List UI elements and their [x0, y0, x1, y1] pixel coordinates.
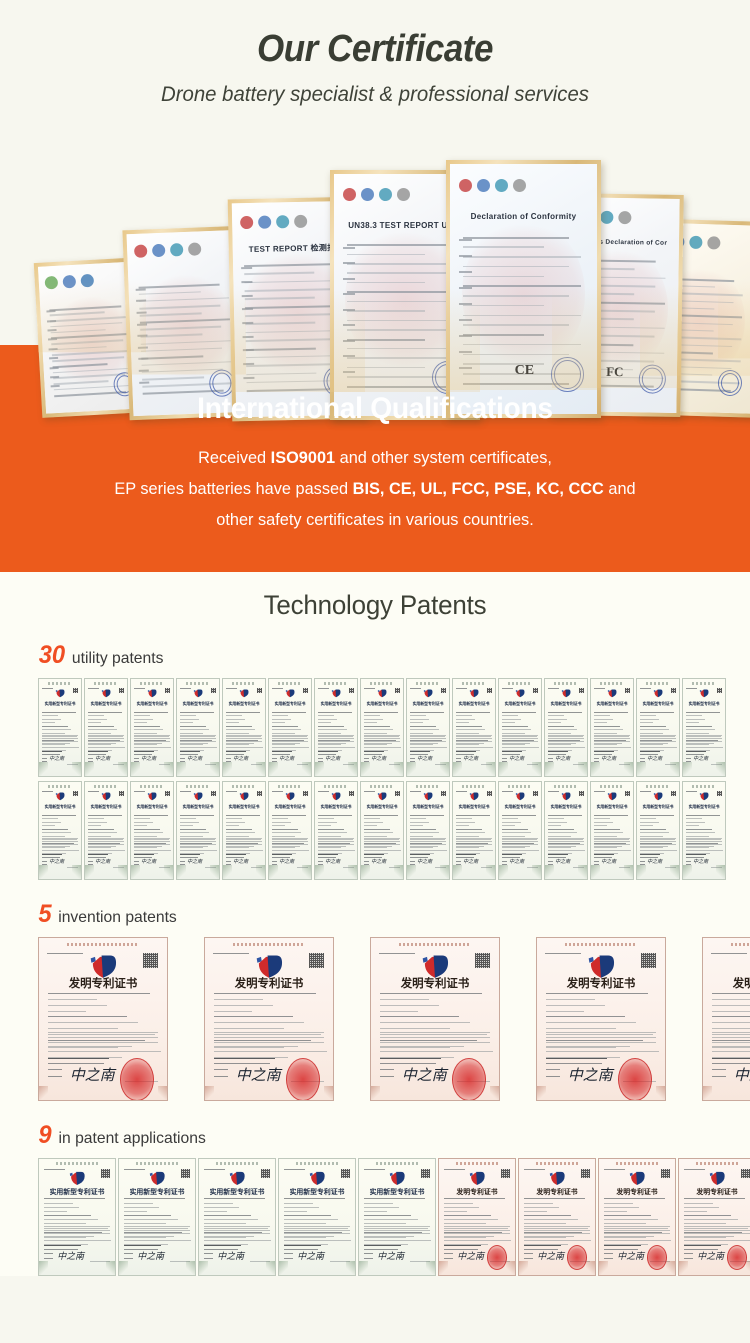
corner-ornament: [269, 865, 278, 879]
international-qualifications-banner: International Qualifications Received IS…: [0, 345, 750, 572]
certificate-title: 实用新型专利证书: [594, 701, 629, 707]
certificate-title: 发明专利证书: [685, 1186, 749, 1196]
qr-code-icon: [165, 688, 170, 693]
certificate-title: 实用新型专利证书: [365, 1186, 429, 1196]
patent-emblem-icon: [515, 689, 525, 698]
emblem-holder: [309, 1171, 326, 1186]
certificate-title: 实用新型专利证书: [134, 701, 169, 707]
corner-ornament: [266, 1261, 275, 1275]
patent-emblem-icon: [515, 792, 525, 801]
patent-group-utility: 30 utility patents 实用新型专利证书中之南实用新型专利证书中之…: [0, 643, 750, 880]
certificate-top-ornament: [416, 785, 440, 788]
qr-code-icon: [487, 791, 492, 796]
signature: 中之南: [236, 1064, 281, 1085]
certificate-top-ornament: [508, 785, 532, 788]
corner-ornament: [407, 762, 416, 776]
corner-ornament: [223, 865, 232, 879]
corner-ornament: [348, 865, 357, 879]
corner-ornament: [324, 1086, 333, 1100]
signature: 中之南: [325, 858, 340, 865]
qr-code-icon: [395, 688, 400, 693]
emblem-holder: [193, 689, 203, 698]
emblem-holder: [285, 792, 295, 801]
signature: 中之南: [734, 1064, 750, 1085]
qr-code-icon: [341, 1169, 350, 1178]
patent-emblem-icon: [55, 792, 65, 801]
patent-certificate-thumbnail[interactable]: 实用新型专利证书中之南: [176, 678, 220, 777]
qr-code-icon: [257, 688, 262, 693]
patent-certificate-thumbnail[interactable]: 实用新型专利证书中之南: [268, 678, 312, 777]
emblem-holder: [55, 689, 65, 698]
patent-group-applications: 9 in patent applications 实用新型专利证书中之南实用新型…: [0, 1123, 750, 1276]
corner-ornament: [637, 762, 646, 776]
patent-certificate-thumbnail[interactable]: 实用新型专利证书中之南: [682, 678, 726, 777]
patent-certificate-thumbnail[interactable]: 实用新型专利证书中之南: [222, 781, 266, 880]
corner-ornament: [39, 865, 48, 879]
patent-emblem-icon: [285, 792, 295, 801]
patent-certificate-thumbnail[interactable]: 实用新型专利证书中之南: [130, 781, 174, 880]
certificate-top-ornament: [233, 943, 305, 946]
signature: 中之南: [647, 755, 662, 762]
patent-emblem-icon: [709, 1171, 726, 1186]
emblem-holder: [55, 792, 65, 801]
signature: 中之南: [70, 1064, 115, 1085]
patent-emblem-icon: [149, 1171, 166, 1186]
emblem-holder: [607, 792, 617, 801]
patent-emblem-icon: [309, 1171, 326, 1186]
certificate-title: 实用新型专利证书: [205, 1186, 269, 1196]
banner-line1-suffix: and other system certificates,: [335, 448, 552, 467]
patent-certificate-thumbnail[interactable]: 发明专利证书中之南: [702, 937, 750, 1101]
patent-emblem-icon: [193, 792, 203, 801]
emblem-holder: [709, 1171, 726, 1186]
corner-ornament: [315, 762, 324, 776]
certificate-title: 实用新型专利证书: [640, 701, 675, 707]
emblem-holder: [515, 792, 525, 801]
patent-certificate-thumbnail[interactable]: 实用新型专利证书中之南: [406, 678, 450, 777]
certificate-title: 实用新型专利证书: [318, 701, 353, 707]
certificate-title: 实用新型专利证书: [272, 804, 307, 810]
patent-certificate-thumbnail[interactable]: 实用新型专利证书中之南: [636, 781, 680, 880]
qr-code-icon: [303, 688, 308, 693]
patent-emblem-icon: [239, 689, 249, 698]
qr-code-icon: [119, 791, 124, 796]
patent-certificate-thumbnail[interactable]: 实用新型专利证书中之南: [198, 1158, 276, 1276]
corner-ornament: [440, 865, 449, 879]
group-count: 30: [39, 643, 65, 668]
qr-code-icon: [441, 791, 446, 796]
corner-ornament: [499, 865, 508, 879]
corner-ornament: [537, 1086, 546, 1100]
patent-certificate-thumbnail[interactable]: 实用新型专利证书中之南: [590, 678, 634, 777]
corner-ornament: [39, 762, 48, 776]
corner-ornament: [131, 762, 140, 776]
patent-certificate-thumbnail[interactable]: 实用新型专利证书中之南: [406, 781, 450, 880]
certificate-title: 实用新型专利证书: [285, 1186, 349, 1196]
group-count: 5: [38, 902, 51, 927]
certificate-top-ornament: [186, 785, 210, 788]
qr-code-icon: [671, 791, 676, 796]
emblem-holder: [699, 689, 709, 698]
signature: 中之南: [187, 755, 202, 762]
patent-emblem-icon: [561, 792, 571, 801]
patent-certificate-thumbnail[interactable]: 实用新型专利证书中之南: [84, 781, 128, 880]
patent-emblem-icon: [389, 1171, 406, 1186]
group-text: invention patents: [58, 909, 177, 927]
patent-certificate-thumbnail[interactable]: 实用新型专利证书中之南: [498, 678, 542, 777]
corner-ornament: [703, 1086, 712, 1100]
signature: 中之南: [601, 755, 616, 762]
certificate-title: 实用新型专利证书: [226, 701, 261, 707]
signature: 中之南: [417, 858, 432, 865]
signature: 中之南: [417, 755, 432, 762]
qr-code-icon: [741, 1169, 750, 1178]
certificate-top-ornament: [692, 785, 716, 788]
corner-ornament: [670, 865, 679, 879]
certificate-top-ornament: [554, 682, 578, 685]
patent-certificate-thumbnail[interactable]: 发明专利证书中之南: [678, 1158, 750, 1276]
patent-certificate-thumbnail[interactable]: 实用新型专利证书中之南: [590, 781, 634, 880]
patent-certificate-thumbnail[interactable]: 发明专利证书中之南: [518, 1158, 596, 1276]
official-red-seal-icon: [727, 1245, 747, 1270]
corner-ornament: [315, 865, 324, 879]
qr-code-icon: [101, 1169, 110, 1178]
corner-ornament: [486, 762, 495, 776]
certificate-top-ornament: [324, 785, 348, 788]
certificate-title: 实用新型专利证书: [42, 701, 77, 707]
emblem-holder: [561, 689, 571, 698]
certificate-top-ornament: [399, 943, 471, 946]
signature: 中之南: [463, 858, 478, 865]
patent-certificate-thumbnail[interactable]: 实用新型专利证书中之南: [314, 781, 358, 880]
signature: 中之南: [463, 755, 478, 762]
corner-ornament: [269, 762, 278, 776]
certificate-top-ornament: [416, 682, 440, 685]
corner-ornament: [131, 865, 140, 879]
patent-emblem-icon: [101, 689, 111, 698]
patent-certificate-thumbnail[interactable]: 实用新型专利证书中之南: [544, 781, 588, 880]
corner-ornament: [72, 865, 81, 879]
qr-code-icon: [625, 791, 630, 796]
certificate-top-ornament: [565, 943, 637, 946]
corner-ornament: [177, 762, 186, 776]
signature: 中之南: [279, 858, 294, 865]
patent-certificate-thumbnail[interactable]: 实用新型专利证书中之南: [38, 1158, 116, 1276]
certificate-top-ornament: [600, 682, 624, 685]
certificate-top-ornament: [56, 1162, 99, 1165]
signature: 中之南: [49, 858, 64, 865]
patent-certificate-thumbnail[interactable]: 实用新型专利证书中之南: [222, 678, 266, 777]
patent-emblem-icon: [629, 1171, 646, 1186]
emblem-holder: [469, 689, 479, 698]
certificate-title: 实用新型专利证书: [410, 804, 445, 810]
corner-ornament: [656, 1086, 665, 1100]
qr-code-icon: [119, 688, 124, 693]
certificate-title: 实用新型专利证书: [42, 804, 77, 810]
patent-emblem-icon: [193, 689, 203, 698]
signature: 中之南: [377, 1249, 404, 1262]
signature: 中之南: [402, 1064, 447, 1085]
corner-ornament: [666, 1261, 675, 1275]
patent-certificate-thumbnail[interactable]: 实用新型专利证书中之南: [84, 678, 128, 777]
qr-code-icon: [625, 688, 630, 693]
certificate-top-ornament: [616, 1162, 659, 1165]
certificate-logo-band: [44, 269, 133, 287]
signature: 中之南: [697, 1249, 724, 1262]
certificate-top-ornament: [67, 943, 139, 946]
patent-emblem-icon: [607, 792, 617, 801]
certificate-title: 实用新型专利证书: [45, 1186, 109, 1196]
certificate-title: 实用新型专利证书: [180, 804, 215, 810]
corner-ornament: [578, 865, 587, 879]
certificate-top-ornament: [232, 785, 256, 788]
patent-certificate-thumbnail[interactable]: 发明专利证书中之南: [38, 937, 168, 1101]
corner-ornament: [302, 865, 311, 879]
corner-ornament: [164, 762, 173, 776]
certificate-title: 发明专利证书: [445, 1186, 509, 1196]
emblem-holder: [699, 792, 709, 801]
qr-code-icon: [441, 688, 446, 693]
qr-code-icon: [717, 791, 722, 796]
patent-emblem-icon: [469, 689, 479, 698]
certificate-title: 发明专利证书: [49, 975, 157, 991]
corner-ornament: [210, 762, 219, 776]
certificate-top-ornament: [48, 785, 72, 788]
patent-certificate-thumbnail[interactable]: 发明专利证书中之南: [438, 1158, 516, 1276]
signature: 中之南: [233, 858, 248, 865]
qr-code-icon: [181, 1169, 190, 1178]
emblem-holder: [377, 689, 387, 698]
patent-certificate-thumbnail[interactable]: 实用新型专利证书中之南: [360, 678, 404, 777]
corner-ornament: [348, 762, 357, 776]
patent-certificate-thumbnail[interactable]: 发明专利证书中之南: [536, 937, 666, 1101]
certificate-top-ornament: [136, 1162, 179, 1165]
corner-ornament: [164, 865, 173, 879]
certificate-top-ornament: [140, 682, 164, 685]
certificate-title: 实用新型专利证书: [548, 804, 583, 810]
certificate-top-ornament: [278, 682, 302, 685]
emblem-holder: [469, 792, 479, 801]
patent-certificate-thumbnail[interactable]: 发明专利证书中之南: [204, 937, 334, 1101]
signature: 中之南: [297, 1249, 324, 1262]
signature: 中之南: [279, 755, 294, 762]
official-red-seal-icon: [647, 1245, 667, 1270]
patent-certificate-thumbnail[interactable]: 实用新型专利证书中之南: [118, 1158, 196, 1276]
emblem-holder: [549, 1171, 566, 1186]
page-subtitle: Drone battery specialist & professional …: [11, 83, 739, 107]
patent-certificate-thumbnail[interactable]: 实用新型专利证书中之南: [360, 781, 404, 880]
certificate-top-ornament: [216, 1162, 259, 1165]
corner-ornament: [683, 865, 692, 879]
patent-emblem-icon: [699, 689, 709, 698]
qr-code-icon: [579, 791, 584, 796]
group-count: 9: [38, 1123, 51, 1148]
qr-code-icon: [257, 791, 262, 796]
corner-ornament: [39, 1086, 48, 1100]
patent-certificate-thumbnail[interactable]: 发明专利证书中之南: [598, 1158, 676, 1276]
patent-emblem-icon: [377, 689, 387, 698]
emblem-holder: [239, 792, 249, 801]
certificate-top-ornament: [692, 682, 716, 685]
banner-line2-suffix: and: [604, 479, 636, 498]
page-title: Our Certificate: [30, 0, 720, 71]
corner-ornament: [532, 762, 541, 776]
emblem-holder: [423, 792, 433, 801]
signature: 中之南: [555, 755, 570, 762]
patent-certificate-thumbnail[interactable]: 实用新型专利证书中之南: [38, 781, 82, 880]
banner-title: International Qualifications: [23, 345, 728, 426]
corner-ornament: [210, 865, 219, 879]
patent-certificate-thumbnail[interactable]: 发明专利证书中之南: [370, 937, 500, 1101]
qr-code-icon: [579, 688, 584, 693]
invention-row: 发明专利证书中之南发明专利证书中之南发明专利证书中之南发明专利证书中之南发明专利…: [38, 937, 750, 1101]
patent-certificate-thumbnail[interactable]: 实用新型专利证书中之南: [498, 781, 542, 880]
group-text: utility patents: [72, 650, 164, 668]
certificate-top-ornament: [646, 682, 670, 685]
banner-line2-prefix: EP series batteries have passed: [114, 479, 352, 498]
signature: 中之南: [617, 1249, 644, 1262]
certificate-title: 实用新型专利证书: [134, 804, 169, 810]
signature: 中之南: [141, 755, 156, 762]
qr-code-icon: [349, 688, 354, 693]
certificate-title: 发明专利证书: [605, 1186, 669, 1196]
patent-emblem-icon: [699, 792, 709, 801]
corner-ornament: [118, 762, 127, 776]
patent-certificate-thumbnail[interactable]: 实用新型专利证书中之南: [314, 678, 358, 777]
signature: 中之南: [509, 858, 524, 865]
technology-patents-section: Technology Patents 30 utility patents 实用…: [0, 572, 750, 1276]
patent-certificate-thumbnail[interactable]: 实用新型专利证书中之南: [176, 781, 220, 880]
patent-certificate-thumbnail[interactable]: 实用新型专利证书中之南: [38, 678, 82, 777]
applications-row: 实用新型专利证书中之南实用新型专利证书中之南实用新型专利证书中之南实用新型专利证…: [38, 1158, 750, 1276]
corner-ornament: [371, 1086, 380, 1100]
qr-code-icon: [143, 953, 158, 968]
emblem-holder: [229, 1171, 246, 1186]
emblem-holder: [69, 1171, 86, 1186]
emblem-holder: [653, 689, 663, 698]
emblem-holder: [377, 792, 387, 801]
emblem-holder: [285, 689, 295, 698]
certificate-top-ornament: [554, 785, 578, 788]
corner-ornament: [256, 865, 265, 879]
patent-certificate-thumbnail[interactable]: 实用新型专利证书中之南: [452, 678, 496, 777]
banner-line1-prefix: Received: [198, 448, 271, 467]
certificate-top-ornament: [324, 682, 348, 685]
corner-ornament: [506, 1261, 515, 1275]
corner-ornament: [624, 762, 633, 776]
patent-certificate-thumbnail[interactable]: 实用新型专利证书中之南: [358, 1158, 436, 1276]
patent-emblem-icon: [147, 792, 157, 801]
certificate-top-ornament: [370, 785, 394, 788]
corner-ornament: [118, 865, 127, 879]
corner-ornament: [85, 762, 94, 776]
emblem-holder: [149, 1171, 166, 1186]
qr-code-icon: [303, 791, 308, 796]
corner-ornament: [683, 762, 692, 776]
qr-code-icon: [533, 688, 538, 693]
qr-code-icon: [349, 791, 354, 796]
patent-certificate-thumbnail[interactable]: 实用新型专利证书中之南: [682, 781, 726, 880]
certificate-title: 发明专利证书: [713, 975, 750, 991]
certificate-top-ornament: [48, 682, 72, 685]
group-label: 5 invention patents: [38, 902, 750, 927]
emblem-holder: [331, 689, 341, 698]
patent-certificate-thumbnail[interactable]: 实用新型专利证书中之南: [452, 781, 496, 880]
certificate-title: 发明专利证书: [215, 975, 323, 991]
qr-code-icon: [395, 791, 400, 796]
certificate-top-ornament: [696, 1162, 739, 1165]
patent-certificate-thumbnail[interactable]: 实用新型专利证书中之南: [130, 678, 174, 777]
emblem-holder: [147, 689, 157, 698]
certificate-top-ornament: [370, 682, 394, 685]
certificate-top-ornament: [731, 943, 750, 946]
patent-certificate-thumbnail[interactable]: 实用新型专利证书中之南: [636, 678, 680, 777]
corner-ornament: [394, 865, 403, 879]
qr-code-icon: [73, 688, 78, 693]
corner-ornament: [670, 762, 679, 776]
patent-emblem-icon: [549, 1171, 566, 1186]
patent-emblem-icon: [607, 689, 617, 698]
qr-code-icon: [309, 953, 324, 968]
qr-code-icon: [533, 791, 538, 796]
corner-ornament: [439, 1261, 448, 1275]
patent-emblem-icon: [229, 1171, 246, 1186]
group-text: in patent applications: [58, 1130, 205, 1148]
certificate-title: 实用新型专利证书: [180, 701, 215, 707]
certificate-top-ornament: [376, 1162, 419, 1165]
official-red-seal-icon: [567, 1245, 587, 1270]
emblem-holder: [101, 689, 111, 698]
patent-certificate-thumbnail[interactable]: 实用新型专利证书中之南: [268, 781, 312, 880]
signature: 中之南: [509, 755, 524, 762]
patent-certificate-thumbnail[interactable]: 实用新型专利证书中之南: [544, 678, 588, 777]
qr-code-icon: [421, 1169, 430, 1178]
corner-ornament: [499, 762, 508, 776]
emblem-holder: [147, 792, 157, 801]
certificate-top-ornament: [140, 785, 164, 788]
certificate-logo-band: [459, 177, 588, 200]
patent-emblem-icon: [285, 689, 295, 698]
qr-code-icon: [73, 791, 78, 796]
corner-ornament: [679, 1261, 688, 1275]
qr-code-icon: [671, 688, 676, 693]
qr-code-icon: [211, 688, 216, 693]
corner-ornament: [361, 762, 370, 776]
corner-ornament: [716, 762, 725, 776]
banner-line-1: Received ISO9001 and other system certif…: [15, 442, 735, 473]
patent-emblem-icon: [423, 689, 433, 698]
qr-code-icon: [641, 953, 656, 968]
signature: 中之南: [141, 858, 156, 865]
corner-ornament: [426, 1261, 435, 1275]
signature: 中之南: [217, 1249, 244, 1262]
corner-ornament: [407, 865, 416, 879]
corner-ornament: [624, 865, 633, 879]
signature: 中之南: [537, 1249, 564, 1262]
qr-code-icon: [261, 1169, 270, 1178]
qr-code-icon: [661, 1169, 670, 1178]
certificate-title: 实用新型专利证书: [364, 804, 399, 810]
signature: 中之南: [95, 755, 110, 762]
corner-ornament: [453, 762, 462, 776]
emblem-holder: [629, 1171, 646, 1186]
certificate-title: 实用新型专利证书: [456, 701, 491, 707]
signature: 中之南: [568, 1064, 613, 1085]
patent-certificate-thumbnail[interactable]: 实用新型专利证书中之南: [278, 1158, 356, 1276]
certificate-title: 实用新型专利证书: [364, 701, 399, 707]
certificate-title: 实用新型专利证书: [318, 804, 353, 810]
corner-ornament: [106, 1261, 115, 1275]
